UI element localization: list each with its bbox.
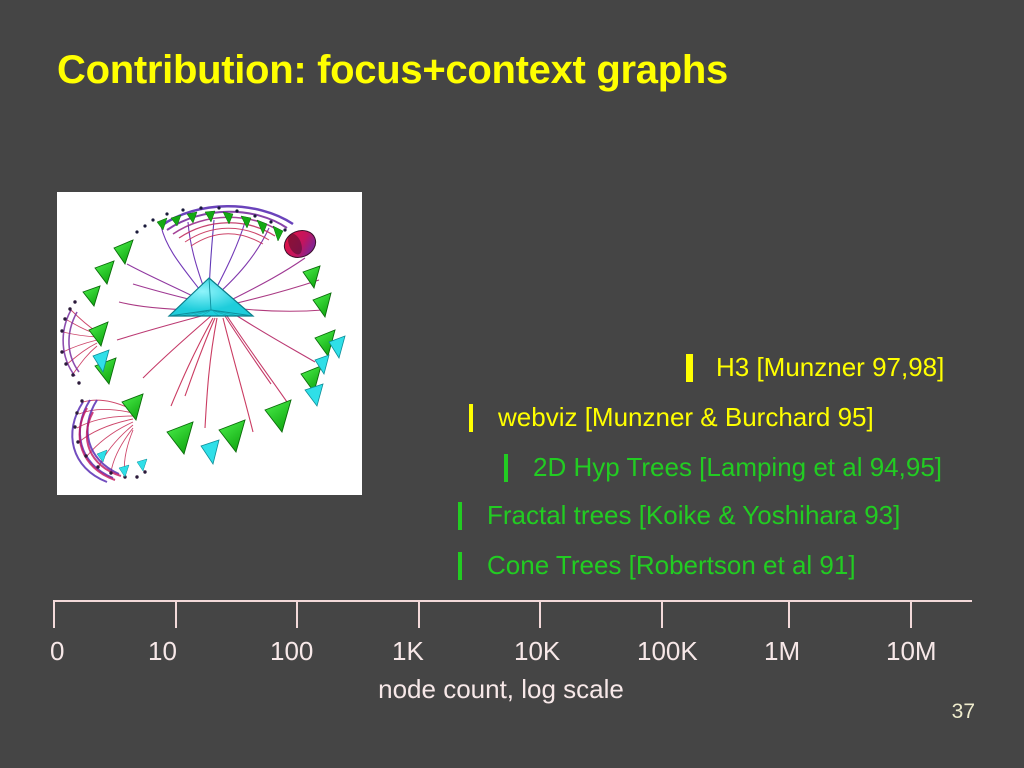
axis-label-1m: 1M xyxy=(764,636,800,667)
h3-graph-figure xyxy=(57,192,362,495)
h3-graph-svg xyxy=(57,192,362,495)
legend-tick-fractal-trees xyxy=(458,502,462,530)
legend-item-fractal-trees[interactable]: Fractal trees [Koike & Yoshihara 93] xyxy=(458,500,900,531)
axis-tick-0 xyxy=(53,600,55,628)
legend-label-fractal-trees: Fractal trees [Koike & Yoshihara 93] xyxy=(487,500,900,531)
legend-label-h3: H3 [Munzner 97,98] xyxy=(716,352,944,383)
axis-tick-1m xyxy=(788,600,790,628)
axis-tick-1k xyxy=(418,600,420,628)
legend-item-webviz[interactable]: webviz [Munzner & Burchard 95] xyxy=(469,402,874,433)
axis-label-10k: 10K xyxy=(514,636,560,667)
axis-label-0: 0 xyxy=(50,636,64,667)
page-title: Contribution: focus+context graphs xyxy=(57,48,728,93)
legend-item-h3[interactable]: H3 [Munzner 97,98] xyxy=(686,352,944,383)
axis-tick-10 xyxy=(175,600,177,628)
legend-item-2d-hyp-trees[interactable]: 2D Hyp Trees [Lamping et al 94,95] xyxy=(504,452,942,483)
axis-label-10: 10 xyxy=(148,636,177,667)
slide: Contribution: focus+context graphs xyxy=(0,0,1024,768)
axis-tick-100 xyxy=(296,600,298,628)
legend-tick-cone-trees xyxy=(458,552,462,580)
legend-item-cone-trees[interactable]: Cone Trees [Robertson et al 91] xyxy=(458,550,856,581)
legend-tick-2d-hyp-trees xyxy=(504,454,508,482)
axis-tick-10m xyxy=(910,600,912,628)
legend-label-2d-hyp-trees: 2D Hyp Trees [Lamping et al 94,95] xyxy=(533,452,942,483)
axis-label-100k: 100K xyxy=(637,636,698,667)
axis-label-100: 100 xyxy=(270,636,313,667)
axis-tick-10k xyxy=(539,600,541,628)
axis-label-10m: 10M xyxy=(886,636,937,667)
legend-label-webviz: webviz [Munzner & Burchard 95] xyxy=(498,402,874,433)
page-number: 37 xyxy=(952,700,975,724)
axis-tick-labels: 0 10 100 1K 10K 100K 1M 10M xyxy=(0,636,1024,672)
legend-tick-webviz xyxy=(469,404,473,432)
axis-tick-100k xyxy=(661,600,663,628)
axis-caption-text: node count, log scale xyxy=(378,674,624,705)
legend-label-cone-trees: Cone Trees [Robertson et al 91] xyxy=(487,550,856,581)
legend-tick-h3 xyxy=(686,354,693,382)
axis-label-1k: 1K xyxy=(392,636,424,667)
axis-caption: node count, log scale xyxy=(0,674,1024,705)
node-count-axis xyxy=(53,600,972,602)
